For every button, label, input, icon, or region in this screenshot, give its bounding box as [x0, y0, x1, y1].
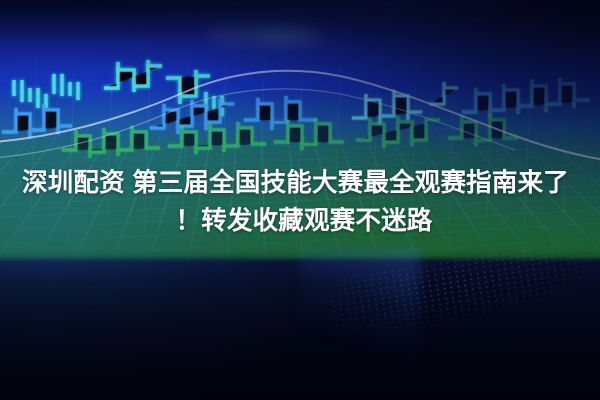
headline: 深圳配资 第三届全国技能大赛最全观赛指南来了 ！转发收藏观赛不迷路 [0, 164, 600, 240]
light-beam [300, 250, 420, 360]
headline-line-1: 深圳配资 第三届全国技能大赛最全观赛指南来了 [16, 164, 584, 202]
headline-line-2: ！转发收藏观赛不迷路 [16, 202, 584, 240]
news-banner: 深圳配资 第三届全国技能大赛最全观赛指南来了 ！转发收藏观赛不迷路 [0, 0, 600, 400]
